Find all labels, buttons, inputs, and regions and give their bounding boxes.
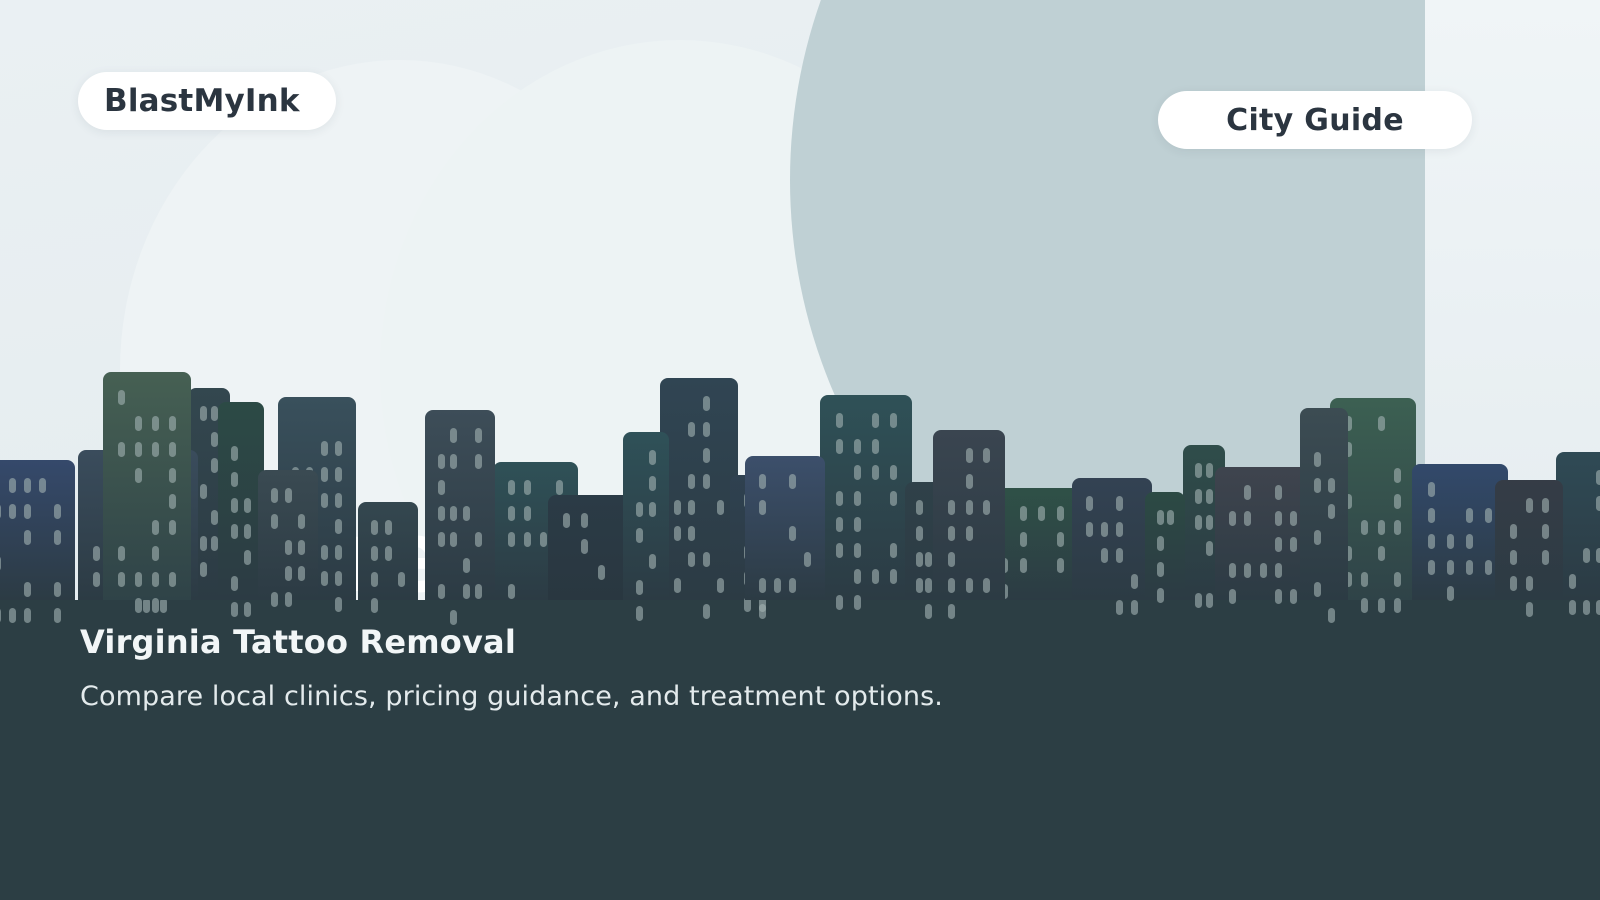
building-window (450, 454, 457, 469)
building-window (1328, 478, 1335, 493)
skyline-building (623, 432, 669, 600)
building-window (789, 578, 796, 593)
skyline-building (103, 372, 191, 600)
city-skyline (0, 280, 1600, 600)
building-window (298, 566, 305, 581)
building-window (200, 536, 207, 551)
building-window (1466, 560, 1473, 575)
building-window (1206, 489, 1213, 504)
building-window (1596, 470, 1600, 485)
building-window (1038, 506, 1045, 521)
building-window (9, 478, 16, 493)
building-window (1466, 534, 1473, 549)
building-window (717, 578, 724, 593)
building-window (463, 506, 470, 521)
building-window (135, 416, 142, 431)
building-window (925, 578, 932, 593)
building-window (271, 488, 278, 503)
building-window (836, 439, 843, 454)
building-window (636, 580, 643, 595)
building-window (335, 597, 342, 612)
building-window (1290, 511, 1297, 526)
building-window (703, 396, 710, 411)
building-window (1526, 498, 1533, 513)
building-window (1466, 508, 1473, 523)
building-window (1328, 608, 1335, 623)
building-window (836, 543, 843, 558)
building-window (688, 474, 695, 489)
building-window (649, 554, 656, 569)
skyline-building (1495, 480, 1563, 600)
building-window (118, 546, 125, 561)
building-window (285, 488, 292, 503)
building-window (244, 550, 251, 565)
building-window (649, 476, 656, 491)
building-window (1596, 600, 1600, 615)
building-window (1394, 468, 1401, 483)
building-window (649, 502, 656, 517)
building-window (804, 552, 811, 567)
building-window (1116, 548, 1123, 563)
building-window (948, 500, 955, 515)
building-window (54, 582, 61, 597)
building-window (1526, 602, 1533, 617)
building-window (152, 416, 159, 431)
building-window (948, 604, 955, 619)
building-window (540, 532, 547, 547)
building-window (1378, 416, 1385, 431)
building-window (169, 468, 176, 483)
building-window (271, 592, 278, 607)
building-window (1569, 600, 1576, 615)
building-window (475, 532, 482, 547)
building-window (703, 448, 710, 463)
building-window (836, 595, 843, 610)
building-window (1542, 524, 1549, 539)
building-window (966, 578, 973, 593)
building-window (556, 480, 563, 495)
building-window (1314, 452, 1321, 467)
building-window (1020, 532, 1027, 547)
building-window (1510, 524, 1517, 539)
building-window (118, 390, 125, 405)
building-window (169, 572, 176, 587)
skyline-building (1300, 408, 1348, 600)
building-window (321, 493, 328, 508)
building-window (872, 439, 879, 454)
building-window (244, 498, 251, 513)
building-window (1542, 498, 1549, 513)
building-window (1361, 520, 1368, 535)
building-window (1485, 508, 1492, 523)
building-window (674, 500, 681, 515)
building-window (508, 584, 515, 599)
building-window (54, 504, 61, 519)
hero-description: Compare local clinics, pricing guidance,… (80, 681, 1180, 712)
building-window (789, 474, 796, 489)
building-window (1195, 463, 1202, 478)
building-window (211, 406, 218, 421)
building-window (854, 465, 861, 480)
building-window (1394, 598, 1401, 613)
building-window (1428, 482, 1435, 497)
building-window (0, 504, 1, 519)
building-window (1195, 593, 1202, 608)
building-window (93, 572, 100, 587)
building-window (983, 500, 990, 515)
building-window (948, 552, 955, 567)
building-window (925, 552, 932, 567)
building-window (475, 584, 482, 599)
building-window (438, 454, 445, 469)
building-window (9, 504, 16, 519)
building-window (211, 432, 218, 447)
building-window (335, 545, 342, 560)
building-window (1378, 598, 1385, 613)
building-window (688, 422, 695, 437)
skyline-building (258, 470, 318, 600)
building-window (1290, 589, 1297, 604)
building-window (244, 524, 251, 539)
building-window (1361, 572, 1368, 587)
building-window (508, 532, 515, 547)
building-window (688, 500, 695, 515)
building-window (1428, 560, 1435, 575)
building-window (1244, 511, 1251, 526)
building-window (1206, 541, 1213, 556)
building-window (1314, 582, 1321, 597)
building-window (1510, 550, 1517, 565)
building-window (39, 478, 46, 493)
building-window (1116, 496, 1123, 511)
building-window (1447, 534, 1454, 549)
building-window (1157, 536, 1164, 551)
building-window (285, 592, 292, 607)
brand-badge[interactable]: BlastMyInk (78, 72, 336, 130)
city-guide-badge[interactable]: City Guide (1158, 91, 1472, 149)
building-window (1167, 510, 1174, 525)
building-window (1394, 572, 1401, 587)
building-window (688, 526, 695, 541)
building-window (335, 493, 342, 508)
building-window (231, 472, 238, 487)
building-window (1244, 485, 1251, 500)
building-window (438, 584, 445, 599)
building-window (789, 526, 796, 541)
building-window (231, 576, 238, 591)
building-window (152, 598, 159, 613)
building-window (169, 520, 176, 535)
building-window (1510, 576, 1517, 591)
building-window (598, 565, 605, 580)
building-window (143, 598, 150, 613)
building-window (1057, 506, 1064, 521)
building-window (450, 610, 457, 625)
building-window (890, 543, 897, 558)
building-window (1157, 562, 1164, 577)
building-window (231, 446, 238, 461)
building-window (475, 454, 482, 469)
building-window (450, 506, 457, 521)
building-window (774, 578, 781, 593)
building-window (1229, 563, 1236, 578)
building-window (169, 442, 176, 457)
building-window (1260, 563, 1267, 578)
building-window (1275, 511, 1282, 526)
building-window (854, 491, 861, 506)
building-window (438, 506, 445, 521)
building-window (1275, 563, 1282, 578)
building-window (1116, 600, 1123, 615)
skyline-building (820, 395, 912, 600)
building-window (636, 502, 643, 517)
building-window (1057, 558, 1064, 573)
building-window (508, 480, 515, 495)
building-window (1116, 522, 1123, 537)
building-window (581, 539, 588, 554)
brand-badge-label: BlastMyInk (104, 83, 300, 119)
building-window (9, 608, 16, 623)
building-window (966, 500, 973, 515)
building-window (438, 532, 445, 547)
building-window (703, 604, 710, 619)
building-window (1526, 576, 1533, 591)
building-window (1206, 515, 1213, 530)
building-window (321, 545, 328, 560)
building-window (1314, 530, 1321, 545)
building-window (298, 514, 305, 529)
building-window (1244, 563, 1251, 578)
building-window (135, 572, 142, 587)
building-window (135, 598, 142, 613)
building-window (759, 604, 766, 619)
building-window (1275, 485, 1282, 500)
building-window (1101, 522, 1108, 537)
skyline-building (1145, 492, 1185, 600)
building-window (1328, 504, 1335, 519)
building-window (890, 491, 897, 506)
city-guide-badge-label: City Guide (1226, 103, 1404, 138)
building-window (1275, 589, 1282, 604)
building-window (1314, 478, 1321, 493)
skyline-building (933, 430, 1005, 600)
building-window (854, 595, 861, 610)
building-window (1229, 511, 1236, 526)
building-window (1195, 515, 1202, 530)
building-window (1447, 586, 1454, 601)
building-window (231, 524, 238, 539)
building-window (563, 513, 570, 528)
building-window (335, 467, 342, 482)
skyline-building (425, 410, 495, 600)
building-window (1229, 589, 1236, 604)
building-window (836, 517, 843, 532)
building-window (1569, 574, 1576, 589)
building-window (231, 602, 238, 617)
building-window (321, 467, 328, 482)
building-window (581, 513, 588, 528)
building-window (285, 566, 292, 581)
building-window (854, 517, 861, 532)
building-window (649, 450, 656, 465)
building-window (24, 478, 31, 493)
building-window (152, 572, 159, 587)
building-window (854, 543, 861, 558)
building-window (54, 530, 61, 545)
building-window (759, 474, 766, 489)
building-window (450, 532, 457, 547)
building-window (1195, 489, 1202, 504)
building-window (1275, 537, 1282, 552)
building-window (1020, 558, 1027, 573)
building-window (524, 480, 531, 495)
building-window (1583, 548, 1590, 563)
building-window (24, 530, 31, 545)
building-window (836, 491, 843, 506)
skyline-building (660, 378, 738, 600)
building-window (983, 448, 990, 463)
building-window (1583, 600, 1590, 615)
building-window (703, 552, 710, 567)
building-window (1447, 560, 1454, 575)
building-window (925, 604, 932, 619)
building-window (371, 546, 378, 561)
building-window (688, 552, 695, 567)
building-window (24, 504, 31, 519)
building-window (717, 500, 724, 515)
building-window (703, 422, 710, 437)
building-window (298, 540, 305, 555)
building-window (335, 441, 342, 456)
building-window (636, 528, 643, 543)
building-window (211, 458, 218, 473)
building-window (1596, 496, 1600, 511)
building-window (371, 572, 378, 587)
building-window (1394, 494, 1401, 509)
building-window (890, 413, 897, 428)
building-window (463, 584, 470, 599)
building-window (169, 494, 176, 509)
building-window (674, 526, 681, 541)
building-window (169, 416, 176, 431)
building-window (1206, 593, 1213, 608)
building-window (890, 465, 897, 480)
building-window (0, 556, 1, 571)
building-window (463, 558, 470, 573)
skyline-building (745, 456, 825, 600)
building-window (118, 572, 125, 587)
building-window (508, 506, 515, 521)
building-window (890, 569, 897, 584)
building-window (321, 441, 328, 456)
building-window (916, 552, 923, 567)
building-window (24, 582, 31, 597)
building-window (1057, 532, 1064, 547)
building-window (160, 598, 167, 613)
building-window (200, 562, 207, 577)
building-window (1101, 548, 1108, 563)
building-window (1086, 496, 1093, 511)
building-window (1596, 548, 1600, 563)
building-window (450, 428, 457, 443)
building-window (948, 578, 955, 593)
building-window (231, 498, 238, 513)
building-window (371, 598, 378, 613)
building-window (335, 571, 342, 586)
building-window (271, 514, 278, 529)
building-window (636, 606, 643, 621)
building-window (135, 442, 142, 457)
building-window (916, 578, 923, 593)
skyline-building (1072, 478, 1152, 600)
building-window (152, 442, 159, 457)
building-window (1394, 520, 1401, 535)
building-window (398, 572, 405, 587)
skyline-building (1412, 464, 1508, 600)
building-window (759, 500, 766, 515)
building-window (1428, 534, 1435, 549)
building-window (872, 465, 879, 480)
building-window (916, 526, 923, 541)
hero-subtitle: Virginia Tattoo Removal (80, 623, 1180, 661)
building-window (1157, 588, 1164, 603)
building-window (475, 428, 482, 443)
building-window (385, 520, 392, 535)
skyline-building (1215, 467, 1311, 600)
building-window (200, 406, 207, 421)
building-window (854, 569, 861, 584)
building-window (1428, 508, 1435, 523)
building-window (371, 520, 378, 535)
building-window (703, 474, 710, 489)
building-window (1378, 546, 1385, 561)
building-window (285, 540, 292, 555)
building-window (152, 520, 159, 535)
building-window (1361, 598, 1368, 613)
building-window (1206, 463, 1213, 478)
building-window (872, 413, 879, 428)
building-window (24, 608, 31, 623)
building-window (916, 500, 923, 515)
building-window (211, 536, 218, 551)
building-window (118, 442, 125, 457)
building-window (836, 413, 843, 428)
building-window (1378, 520, 1385, 535)
city-hero-banner: BlastMyInk City Guide Centreville Virgin… (0, 0, 1600, 900)
building-window (524, 532, 531, 547)
building-window (1157, 510, 1164, 525)
building-window (966, 526, 973, 541)
building-window (872, 569, 879, 584)
building-window (211, 510, 218, 525)
building-window (200, 484, 207, 499)
building-window (152, 546, 159, 561)
building-window (438, 480, 445, 495)
building-window (93, 546, 100, 561)
building-window (1131, 600, 1138, 615)
building-window (1020, 506, 1027, 521)
building-window (854, 439, 861, 454)
skyline-building (358, 502, 418, 600)
building-window (966, 448, 973, 463)
building-window (321, 571, 328, 586)
building-window (674, 578, 681, 593)
building-window (335, 519, 342, 534)
building-window (759, 578, 766, 593)
building-window (983, 578, 990, 593)
building-window (524, 506, 531, 521)
building-window (135, 468, 142, 483)
